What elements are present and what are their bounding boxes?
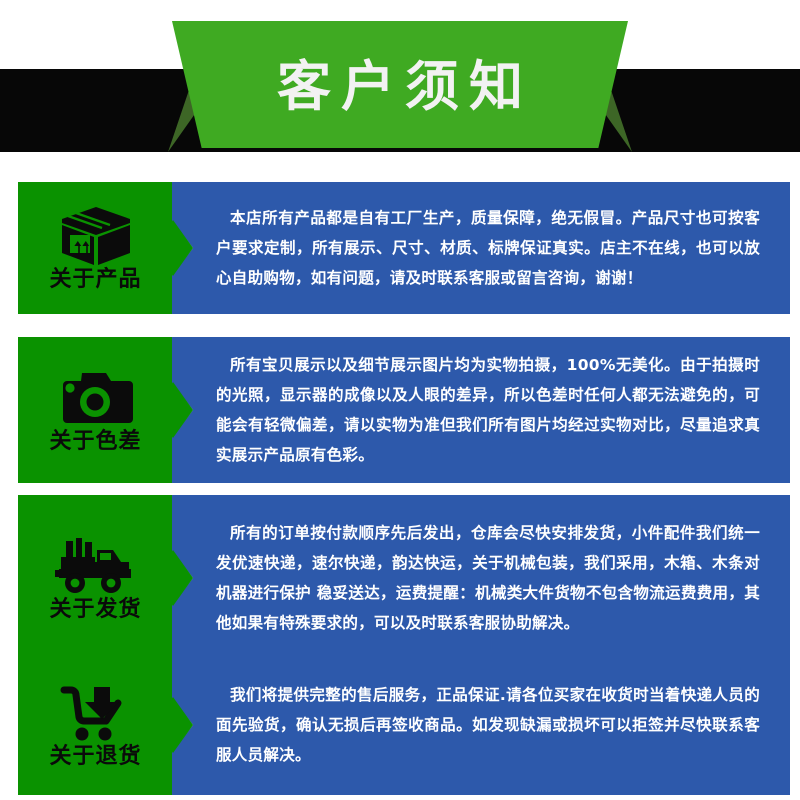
category-label: 关于产品 — [49, 269, 141, 291]
notice-row-product: 关于产品 本店所有产品都是自有工厂生产，质量保障，绝无假冒。产品尺寸也可按客户要… — [0, 182, 800, 314]
forklift-truck-icon — [53, 535, 139, 597]
notice-panel-product: 本店所有产品都是自有工厂生产，质量保障，绝无假冒。产品尺寸也可按客户要求定制，所… — [172, 182, 790, 314]
notice-text: 本店所有产品都是自有工厂生产，质量保障，绝无假冒。产品尺寸也可按客户要求定制，所… — [172, 203, 790, 293]
notice-row-color: 关于色差 所有宝贝展示以及细节展示图片均为实物拍摄，100%无美化。由于拍摄时的… — [0, 337, 800, 483]
category-card-product[interactable]: 关于产品 — [18, 182, 173, 314]
camera-icon — [56, 367, 136, 429]
return-cart-icon — [55, 682, 137, 744]
notice-panel-shipping: 所有的订单按付款顺序先后发出，仓库会尽快安排发货，小件配件我们统一发优速快递，速… — [172, 495, 790, 661]
header-banner: 客户须知 — [0, 0, 800, 170]
category-card-shipping[interactable]: 关于发货 — [18, 495, 173, 661]
notice-row-return: 关于退货 我们将提供完整的售后服务，正品保证.请各位买家在收货时当着快递人员的面… — [0, 655, 800, 795]
category-label: 关于色差 — [49, 431, 141, 453]
category-label: 关于退货 — [49, 746, 141, 768]
category-label: 关于发货 — [49, 599, 141, 621]
notice-panel-return: 我们将提供完整的售后服务，正品保证.请各位买家在收货时当着快递人员的面先验货，确… — [172, 655, 790, 795]
category-card-return[interactable]: 关于退货 — [18, 655, 173, 795]
notice-text: 我们将提供完整的售后服务，正品保证.请各位买家在收货时当着快递人员的面先验货，确… — [172, 680, 790, 770]
notice-text: 所有的订单按付款顺序先后发出，仓库会尽快安排发货，小件配件我们统一发优速快递，速… — [172, 518, 790, 638]
notice-row-shipping: 关于发货 所有的订单按付款顺序先后发出，仓库会尽快安排发货，小件配件我们统一发优… — [0, 495, 800, 661]
ribbon-banner: 客户须知 — [172, 21, 628, 148]
notice-panel-color: 所有宝贝展示以及细节展示图片均为实物拍摄，100%无美化。由于拍摄时的光照，显示… — [172, 337, 790, 483]
notice-text: 所有宝贝展示以及细节展示图片均为实物拍摄，100%无美化。由于拍摄时的光照，显示… — [172, 350, 790, 470]
page-title: 客户须知 — [267, 56, 533, 114]
package-box-icon — [58, 205, 134, 267]
category-card-color[interactable]: 关于色差 — [18, 337, 173, 483]
